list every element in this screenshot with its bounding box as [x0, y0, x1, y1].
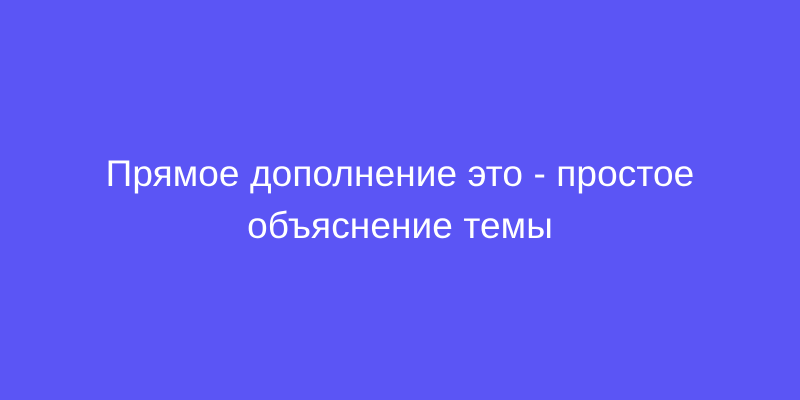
title-card: Прямое дополнение это - простое объяснен… — [0, 0, 800, 400]
page-title: Прямое дополнение это - простое объяснен… — [100, 148, 700, 252]
